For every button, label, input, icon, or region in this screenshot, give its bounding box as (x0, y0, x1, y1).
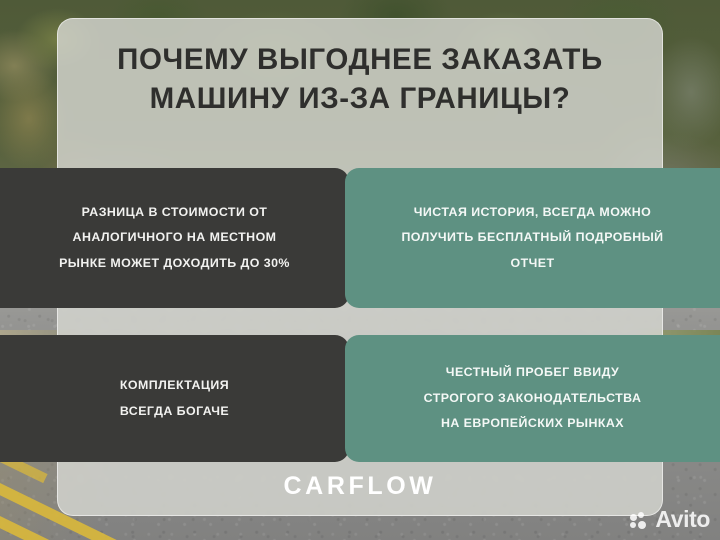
benefit-line: ЧИСТАЯ ИСТОРИЯ, ВСЕГДА МОЖНО (401, 200, 663, 225)
benefit-card-honest-mileage: ЧЕСТНЫЙ ПРОБЕГ ВВИДУ СТРОГОГО ЗАКОНОДАТЕ… (345, 335, 720, 462)
page-title: ПОЧЕМУ ВЫГОДНЕЕ ЗАКАЗАТЬ МАШИНУ ИЗ-ЗА ГР… (57, 40, 663, 118)
benefit-card-text: ЧИСТАЯ ИСТОРИЯ, ВСЕГДА МОЖНО ПОЛУЧИТЬ БЕ… (401, 200, 663, 276)
avito-watermark: Avito (630, 506, 710, 533)
benefit-card-text: ЧЕСТНЫЙ ПРОБЕГ ВВИДУ СТРОГОГО ЗАКОНОДАТЕ… (424, 360, 642, 436)
benefit-card-equipment: КОМПЛЕКТАЦИЯ ВСЕГДА БОГАЧЕ (0, 335, 349, 462)
benefit-card-price-difference: РАЗНИЦА В СТОИМОСТИ ОТ АНАЛОГИЧНОГО НА М… (0, 168, 349, 308)
benefit-line: ЧЕСТНЫЙ ПРОБЕГ ВВИДУ (424, 360, 642, 385)
avito-dots-icon (630, 510, 650, 530)
benefit-line: ОТЧЕТ (401, 251, 663, 276)
brand-logo: CARFLOW (57, 472, 663, 501)
page-title-line-1: ПОЧЕМУ ВЫГОДНЕЕ ЗАКАЗАТЬ (57, 40, 663, 79)
benefit-line: ПОЛУЧИТЬ БЕСПЛАТНЫЙ ПОДРОБНЫЙ (401, 225, 663, 250)
page-title-line-2: МАШИНУ ИЗ-ЗА ГРАНИЦЫ? (57, 79, 663, 118)
benefit-line: ВСЕГДА БОГАЧЕ (120, 399, 229, 424)
benefit-line: НА ЕВРОПЕЙСКИХ РЫНКАХ (424, 411, 642, 436)
benefit-line: АНАЛОГИЧНОГО НА МЕСТНОМ (59, 225, 290, 250)
benefit-card-text: РАЗНИЦА В СТОИМОСТИ ОТ АНАЛОГИЧНОГО НА М… (59, 200, 290, 276)
benefit-line: РАЗНИЦА В СТОИМОСТИ ОТ (59, 200, 290, 225)
benefit-line: СТРОГОГО ЗАКОНОДАТЕЛЬСТВА (424, 386, 642, 411)
benefit-line: РЫНКЕ МОЖЕТ ДОХОДИТЬ ДО 30% (59, 251, 290, 276)
benefit-card-clean-history: ЧИСТАЯ ИСТОРИЯ, ВСЕГДА МОЖНО ПОЛУЧИТЬ БЕ… (345, 168, 720, 308)
benefit-card-text: КОМПЛЕКТАЦИЯ ВСЕГДА БОГАЧЕ (120, 373, 229, 424)
promo-banner: ПОЧЕМУ ВЫГОДНЕЕ ЗАКАЗАТЬ МАШИНУ ИЗ-ЗА ГР… (0, 0, 720, 540)
avito-wordmark: Avito (655, 506, 710, 533)
benefit-line: КОМПЛЕКТАЦИЯ (120, 373, 229, 398)
